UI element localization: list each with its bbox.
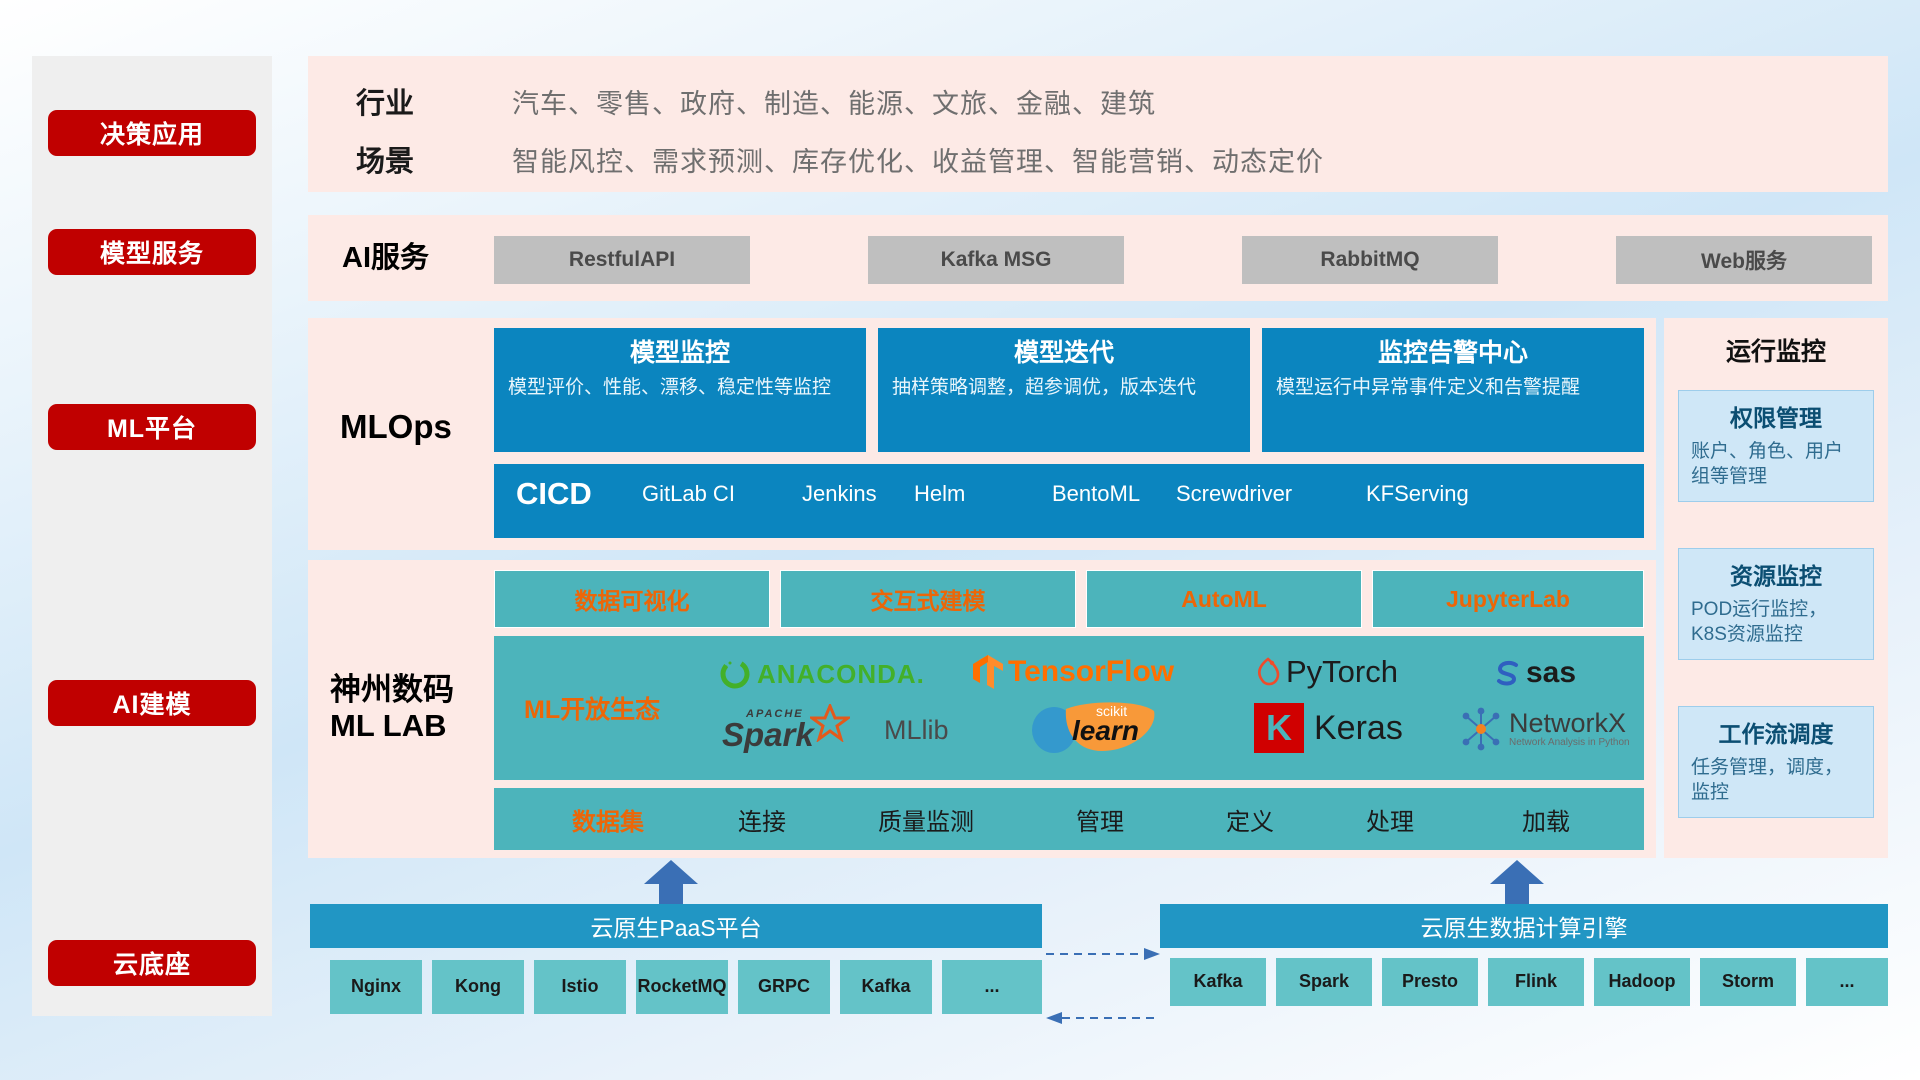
ai-service-label: AI服务 <box>342 242 429 275</box>
mlops-card-alert-center[interactable]: 监控告警中心 模型运行中异常事件定义和告警提醒 <box>1262 328 1644 452</box>
tool-chip-label: 数据可视化 <box>575 582 690 616</box>
card-desc: 账户、角色、用户组等管理 <box>1691 439 1861 489</box>
monitoring-card-permission[interactable]: 权限管理 账户、角色、用户组等管理 <box>1678 390 1874 502</box>
cloud-chip-istio[interactable]: Istio <box>534 960 626 1014</box>
scenario-value: 智能风控、需求预测、库存优化、收益管理、智能营销、动态定价 <box>512 140 1324 179</box>
service-chip-web-service[interactable]: Web服务 <box>1616 236 1872 284</box>
keras-wordmark: Keras <box>1314 709 1403 748</box>
dataset-heading: 数据集 <box>528 802 688 837</box>
spark-wordmark: Spark <box>722 716 814 754</box>
dataset-item-definition[interactable]: 定义 <box>1190 802 1310 837</box>
rail-item-ml-platform[interactable]: ML平台 <box>48 404 256 450</box>
ml-lab-label-line2: ML LAB <box>330 708 454 744</box>
cloud-bar-data-engine[interactable]: 云原生数据计算引擎 <box>1160 904 1888 948</box>
cicd-item-kfserving[interactable]: KFServing <box>1366 464 1526 508</box>
mllib-wordmark: MLlib <box>884 715 949 746</box>
networkx-wordmark: NetworkX <box>1509 710 1630 737</box>
service-chip-label: Kafka MSG <box>941 248 1052 272</box>
cloud-chip-flink[interactable]: Flink <box>1488 958 1584 1006</box>
cloud-chip-nginx[interactable]: Nginx <box>330 960 422 1014</box>
tool-chip-data-visualization[interactable]: 数据可视化 <box>494 570 770 628</box>
cloud-chip-spark[interactable]: Spark <box>1276 958 1372 1006</box>
dataset-item-management[interactable]: 管理 <box>1040 802 1160 837</box>
card-title: 监控告警中心 <box>1276 338 1630 369</box>
rail-item-decision-app[interactable]: 决策应用 <box>48 110 256 156</box>
service-chip-label: Web服务 <box>1701 245 1787 275</box>
mlops-card-model-monitoring[interactable]: 模型监控 模型评价、性能、漂移、稳定性等监控 <box>494 328 866 452</box>
keras-mark-letter: K <box>1266 707 1292 749</box>
cloud-chip-kong[interactable]: Kong <box>432 960 524 1014</box>
cloud-chip-more-right[interactable]: ... <box>1806 958 1888 1006</box>
spark-mllib-logo: APACHE Spark MLlib <box>722 706 949 754</box>
dataset-item-processing[interactable]: 处理 <box>1330 802 1450 837</box>
monitoring-title: 运行监控 <box>1664 332 1888 368</box>
cloud-chip-storm[interactable]: Storm <box>1700 958 1796 1006</box>
cloud-chip-kafka[interactable]: Kafka <box>840 960 932 1014</box>
card-title: 权限管理 <box>1691 399 1861 433</box>
service-chip-label: RestfulAPI <box>569 248 675 272</box>
card-desc: 抽样策略调整，超参调优，版本迭代 <box>892 375 1236 400</box>
keras-logo: K Keras <box>1254 702 1403 754</box>
pytorch-icon <box>1254 655 1282 689</box>
pytorch-wordmark: PyTorch <box>1286 654 1398 690</box>
rail-item-label: 决策应用 <box>100 115 204 151</box>
tool-chip-label: 交互式建模 <box>871 582 986 616</box>
industry-value: 汽车、零售、政府、制造、能源、文旅、金融、建筑 <box>512 82 1156 121</box>
tool-chip-label: AutoML <box>1181 586 1267 613</box>
cloud-bar-label: 云原生PaaS平台 <box>590 909 761 943</box>
ml-ecosystem-heading: ML开放生态 <box>524 690 660 726</box>
architecture-diagram: 决策应用 模型服务 ML平台 AI建模 云底座 行业 汽车、零售、政府、制造、能… <box>0 0 1920 1080</box>
rail-item-cloud-base[interactable]: 云底座 <box>48 940 256 986</box>
dashed-arrow-left-icon <box>1046 1008 1160 1028</box>
card-title: 资源监控 <box>1691 557 1861 591</box>
anaconda-icon <box>718 657 752 691</box>
service-chip-kafka-msg[interactable]: Kafka MSG <box>868 236 1124 284</box>
cicd-item-jenkins[interactable]: Jenkins <box>802 464 914 508</box>
cicd-item-screwdriver[interactable]: Screwdriver <box>1176 464 1366 508</box>
cicd-item-gitlab-ci[interactable]: GitLab CI <box>642 464 802 508</box>
sas-icon <box>1492 657 1524 689</box>
rail-item-label: ML平台 <box>107 409 197 445</box>
card-desc: 任务管理，调度，监控 <box>1691 755 1861 805</box>
tool-chip-jupyterlab[interactable]: JupyterLab <box>1372 570 1644 628</box>
cloud-bar-paas[interactable]: 云原生PaaS平台 <box>310 904 1042 948</box>
rail-item-label: 云底座 <box>113 945 191 981</box>
ml-lab-label-line1: 神州数码 <box>330 672 454 708</box>
ml-lab-label: 神州数码 ML LAB <box>330 672 454 743</box>
anaconda-wordmark: ANACONDA. <box>757 659 925 690</box>
keras-mark-icon: K <box>1254 703 1304 753</box>
rail-item-label: 模型服务 <box>100 234 204 270</box>
anaconda-logo: ANACONDA. <box>718 655 925 693</box>
service-chip-label: RabbitMQ <box>1320 248 1419 272</box>
networkx-logo: NetworkX Network Analysis in Python <box>1458 704 1630 754</box>
sas-wordmark: sas <box>1526 656 1576 690</box>
cloud-chip-grpc[interactable]: GRPC <box>738 960 830 1014</box>
monitoring-card-resource[interactable]: 资源监控 POD运行监控，K8S资源监控 <box>1678 548 1874 660</box>
dataset-item-connect[interactable]: 连接 <box>702 802 822 837</box>
layer-rail <box>32 56 272 1016</box>
tensorflow-wordmark: TensorFlow <box>1008 655 1174 689</box>
cloud-chip-rocketmq[interactable]: RocketMQ <box>636 960 728 1014</box>
networkx-icon <box>1458 706 1504 752</box>
mlops-label: MLOps <box>340 408 452 446</box>
cloud-chip-more-left[interactable]: ... <box>942 960 1042 1014</box>
card-desc: 模型评价、性能、漂移、稳定性等监控 <box>508 375 852 400</box>
rail-item-label: AI建模 <box>112 685 191 721</box>
tool-chip-automl[interactable]: AutoML <box>1086 570 1362 628</box>
rail-item-model-service[interactable]: 模型服务 <box>48 229 256 275</box>
cicd-title: CICD <box>494 464 642 512</box>
arrow-up-data-engine-icon <box>1486 858 1548 906</box>
mlops-card-model-iteration[interactable]: 模型迭代 抽样策略调整，超参调优，版本迭代 <box>878 328 1250 452</box>
scenario-label: 场景 <box>356 138 414 180</box>
dataset-item-quality-monitoring[interactable]: 质量监测 <box>846 802 1006 837</box>
dashed-arrow-right-icon <box>1046 944 1160 964</box>
card-title: 工作流调度 <box>1691 715 1861 749</box>
card-desc: POD运行监控，K8S资源监控 <box>1691 597 1861 647</box>
card-title: 模型监控 <box>508 338 852 369</box>
cloud-chip-kafka-right[interactable]: Kafka <box>1170 958 1266 1006</box>
rail-item-ai-modeling[interactable]: AI建模 <box>48 680 256 726</box>
cloud-chip-hadoop[interactable]: Hadoop <box>1594 958 1690 1006</box>
industry-label: 行业 <box>356 80 414 122</box>
dataset-item-loading[interactable]: 加载 <box>1486 802 1606 837</box>
service-chip-rabbitmq[interactable]: RabbitMQ <box>1242 236 1498 284</box>
tensorflow-logo: TensorFlow <box>972 652 1174 692</box>
monitoring-card-workflow[interactable]: 工作流调度 任务管理，调度，监控 <box>1678 706 1874 818</box>
cicd-item-bentoml[interactable]: BentoML <box>1052 464 1176 508</box>
cicd-item-helm[interactable]: Helm <box>914 464 1052 508</box>
cloud-chip-presto[interactable]: Presto <box>1382 958 1478 1006</box>
arrow-up-paas-icon <box>640 858 702 906</box>
networkx-tagline: Network Analysis in Python <box>1509 737 1630 748</box>
card-title: 模型迭代 <box>892 338 1236 369</box>
spark-star-icon <box>810 704 850 742</box>
scikit-learn-logo: scikit learn <box>1028 700 1158 756</box>
service-chip-restfulapi[interactable]: RestfulAPI <box>494 236 750 284</box>
learn-label: learn <box>1072 715 1139 747</box>
tensorflow-icon <box>972 654 1004 690</box>
tool-chip-label: JupyterLab <box>1446 586 1570 613</box>
pytorch-logo: PyTorch <box>1254 652 1398 692</box>
cicd-bar: CICD GitLab CI Jenkins Helm BentoML Scre… <box>494 464 1644 538</box>
sas-logo: sas <box>1492 654 1576 692</box>
cloud-bar-label: 云原生数据计算引擎 <box>1421 909 1628 943</box>
tool-chip-interactive-modeling[interactable]: 交互式建模 <box>780 570 1076 628</box>
card-desc: 模型运行中异常事件定义和告警提醒 <box>1276 375 1630 400</box>
